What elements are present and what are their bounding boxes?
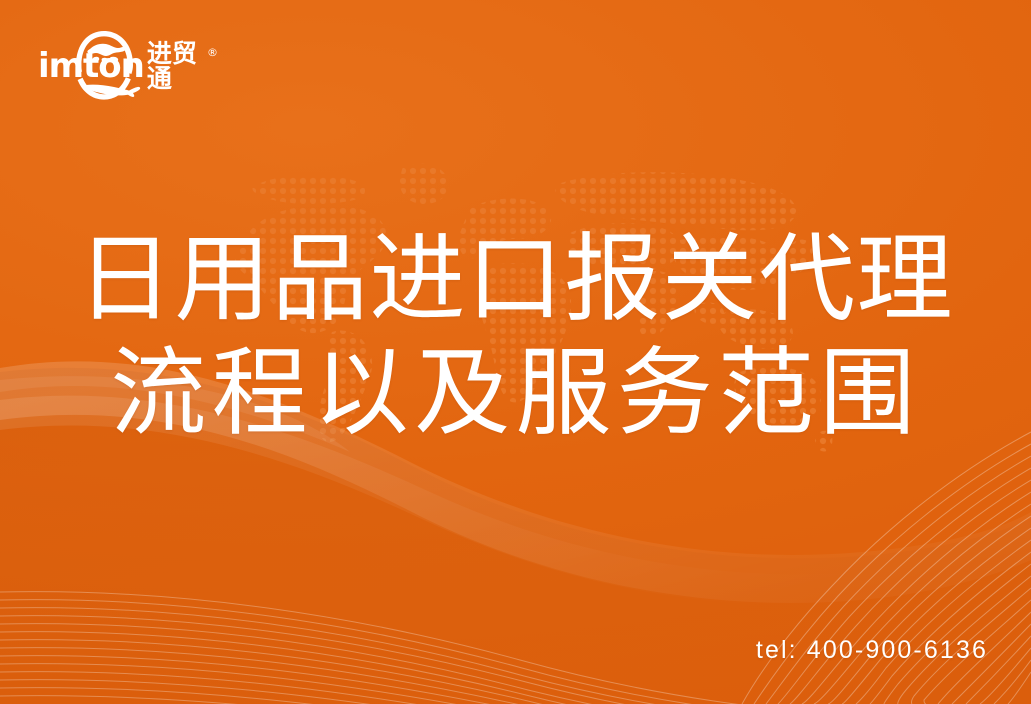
page-title: 日用品进口报关代理 流程以及服务范围 xyxy=(0,226,1031,447)
headline-line-2: 流程以及服务范围 xyxy=(0,340,1031,448)
contact-phone[interactable]: tel: 400-900-6136 xyxy=(756,636,988,665)
headline-line-1: 日用品进口报关代理 xyxy=(0,226,1031,334)
promo-banner: imton 进贸通 ® 日用品进口报关代理 流程以及服务范围 tel: 400-… xyxy=(0,0,1031,704)
brand-logo[interactable]: imton 进贸通 ® xyxy=(38,27,218,103)
logo-wordmark: imton xyxy=(38,49,144,83)
logo-chinese-name: 进贸通 xyxy=(147,41,207,91)
logo-trademark-symbol: ® xyxy=(207,47,218,58)
